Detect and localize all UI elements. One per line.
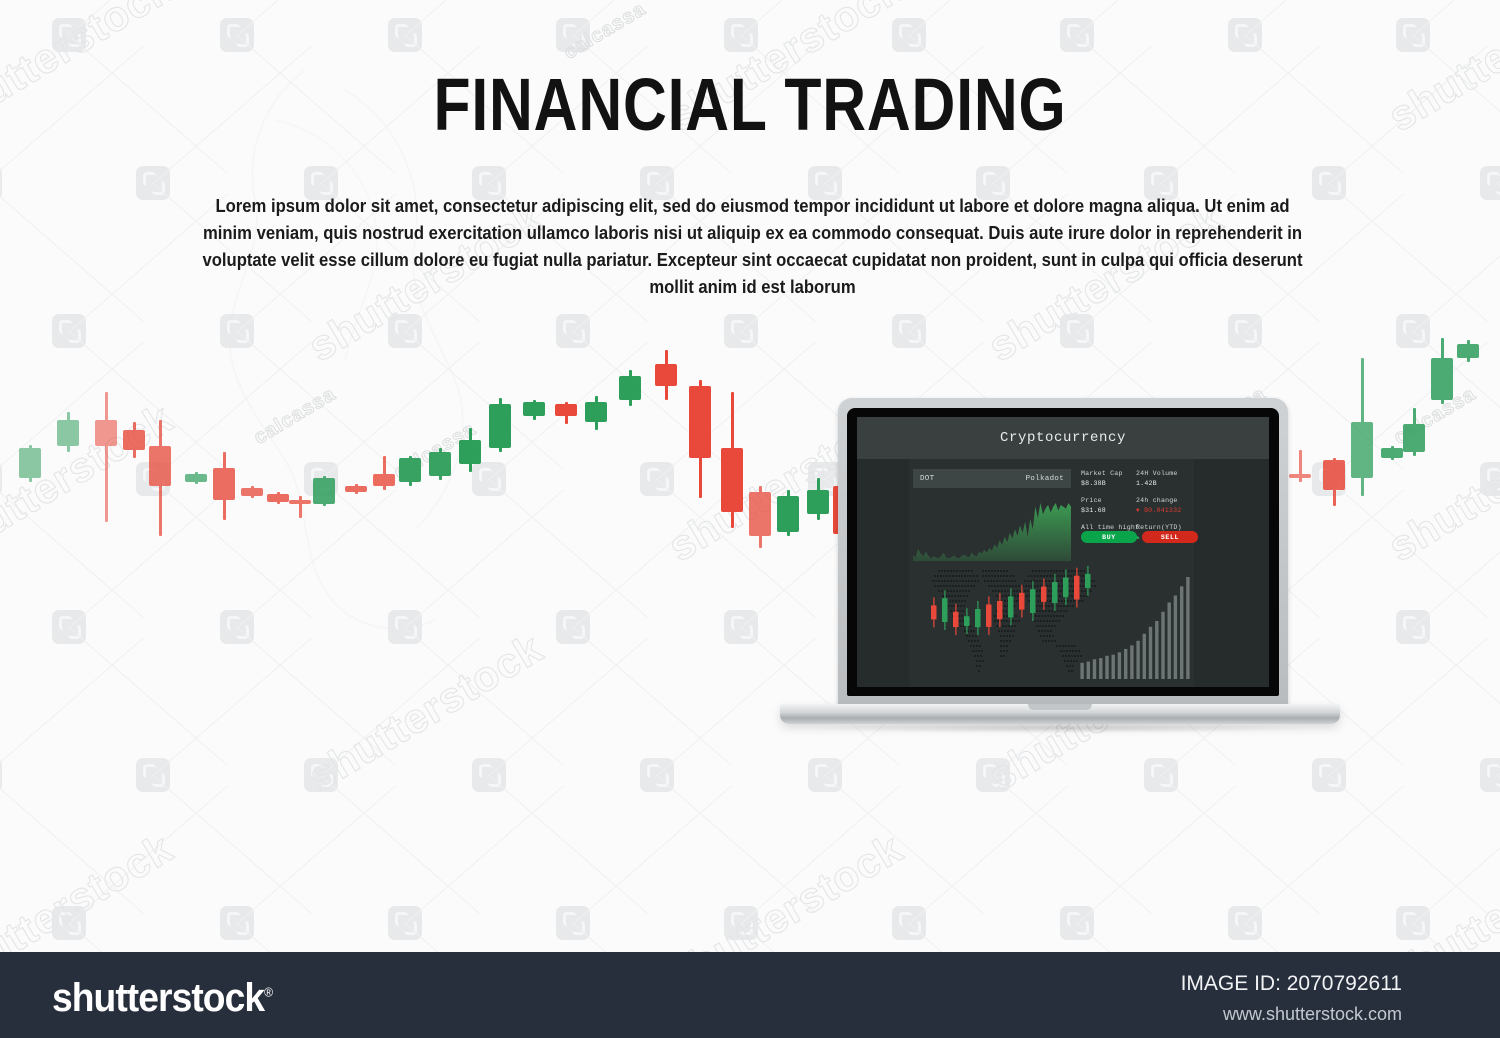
map-dot <box>1074 570 1076 572</box>
map-dot <box>1049 600 1051 602</box>
map-dot <box>974 580 976 582</box>
map-dot <box>1043 635 1045 637</box>
map-dot <box>1028 575 1030 577</box>
map-dot <box>970 645 972 647</box>
map-dot <box>940 575 942 577</box>
price-area-chart <box>913 499 1071 561</box>
map-candle-body <box>953 612 959 627</box>
volume-bar-chart <box>1079 571 1191 679</box>
candlestick <box>749 300 771 600</box>
shutterstock-watermark-logo <box>220 906 254 940</box>
map-dot <box>993 580 995 582</box>
stat-cell: Price$31.68 <box>1081 496 1136 516</box>
map-dot <box>968 640 970 642</box>
map-dot <box>978 650 980 652</box>
map-dot <box>1073 600 1075 602</box>
map-dot <box>1058 585 1060 587</box>
map-dot <box>1050 595 1052 597</box>
map-dot <box>964 630 966 632</box>
map-dot <box>962 570 964 572</box>
map-dot <box>1018 620 1020 622</box>
map-candle-body <box>1052 582 1058 603</box>
watermark-guide-line <box>573 0 732 36</box>
map-dot <box>1043 620 1045 622</box>
map-dot <box>966 635 968 637</box>
volume-bar <box>1105 656 1108 679</box>
candlestick <box>345 300 367 600</box>
candle-body <box>185 474 207 482</box>
map-dot <box>960 625 962 627</box>
shutterstock-watermark-logo <box>388 906 422 940</box>
map-dot <box>938 570 940 572</box>
map-dot <box>1006 585 1008 587</box>
map-dot <box>953 590 955 592</box>
map-dot <box>1067 600 1069 602</box>
map-dot <box>999 580 1001 582</box>
map-dot <box>1003 635 1005 637</box>
map-dot <box>1034 620 1036 622</box>
map-dot <box>997 575 999 577</box>
map-dot <box>1050 615 1052 617</box>
map-dot <box>991 575 993 577</box>
map-dot <box>1038 595 1040 597</box>
candlestick <box>1351 300 1373 600</box>
map-dot <box>1069 580 1071 582</box>
map-dot <box>970 630 972 632</box>
map-dot <box>1016 600 1018 602</box>
shutterstock-url[interactable]: www.shutterstock.com <box>1223 1004 1402 1025</box>
candle-body <box>345 486 367 492</box>
map-dot <box>975 635 977 637</box>
map-dot <box>1061 575 1063 577</box>
map-dot <box>1063 605 1065 607</box>
sell-button[interactable]: SELL <box>1142 531 1198 543</box>
map-dot <box>1042 625 1044 627</box>
map-dot <box>982 575 984 577</box>
map-dot <box>1066 650 1068 652</box>
map-dot <box>978 670 980 672</box>
brand-watermark-text: calcassa <box>560 0 650 65</box>
map-dot <box>958 585 960 587</box>
map-dot <box>1004 600 1006 602</box>
map-dot <box>1071 595 1073 597</box>
map-dot <box>1005 580 1007 582</box>
map-dot <box>1065 655 1067 657</box>
map-dot <box>972 635 974 637</box>
map-dot <box>1049 575 1051 577</box>
candlestick <box>1381 300 1403 600</box>
shutterstock-watermark-logo <box>892 906 926 940</box>
candlestick <box>241 300 263 600</box>
map-dot <box>1070 660 1072 662</box>
candle-body <box>555 404 577 416</box>
map-dot <box>959 570 961 572</box>
map-dot <box>955 600 957 602</box>
volume-bar <box>1149 627 1152 679</box>
candle-body <box>1403 424 1425 452</box>
map-dot <box>1038 630 1040 632</box>
shutterstock-watermark-logo <box>1060 906 1094 940</box>
candle-body <box>213 468 235 500</box>
laptop-lid: Cryptocurrency DOT Polkadot Market Cap$8… <box>838 398 1288 710</box>
watermark-guide-line <box>489 637 648 776</box>
map-dot <box>1009 575 1011 577</box>
watermark-guide-line <box>1329 637 1488 776</box>
map-dot <box>977 655 979 657</box>
candle-body <box>721 448 743 512</box>
map-dot <box>1004 590 1006 592</box>
map-dot <box>1073 660 1075 662</box>
map-dot <box>995 590 997 592</box>
map-dot <box>1062 645 1064 647</box>
map-dot <box>1038 570 1040 572</box>
map-dot <box>1061 585 1063 587</box>
map-dot <box>1049 635 1051 637</box>
map-dot <box>1036 590 1038 592</box>
stat-label: 24H Volume <box>1136 469 1191 479</box>
map-dot <box>976 575 978 577</box>
map-dot <box>1040 575 1042 577</box>
map-dot <box>1036 580 1038 582</box>
shutterstock-watermark-logo <box>1060 18 1094 52</box>
map-candle-body <box>964 616 970 626</box>
shutterstock-watermark-logo <box>136 758 170 792</box>
map-dot <box>951 595 953 597</box>
candle-body <box>619 376 641 400</box>
watermark-guide-line <box>1245 0 1404 36</box>
map-dot <box>1030 580 1032 582</box>
map-dot <box>1046 635 1048 637</box>
map-dot <box>1062 570 1064 572</box>
map-dot <box>975 650 977 652</box>
map-dot <box>938 590 940 592</box>
map-dot <box>1045 640 1047 642</box>
map-dot <box>1027 590 1029 592</box>
map-dot <box>1048 605 1050 607</box>
map-dot <box>962 590 964 592</box>
map-dot <box>1014 625 1016 627</box>
map-dot <box>1001 630 1003 632</box>
map-dot <box>1042 610 1044 612</box>
map-dot <box>973 575 975 577</box>
map-dot <box>1028 600 1030 602</box>
map-dot <box>971 580 973 582</box>
map-dot <box>956 590 958 592</box>
map-dot <box>1044 570 1046 572</box>
map-dot <box>947 590 949 592</box>
map-dot <box>1052 575 1054 577</box>
map-dot <box>944 570 946 572</box>
map-dot <box>965 580 967 582</box>
map-dot <box>947 570 949 572</box>
candlestick <box>585 300 607 600</box>
map-dot <box>994 570 996 572</box>
candlestick <box>1403 300 1425 600</box>
app-window-title: Cryptocurrency <box>1000 430 1126 446</box>
map-dot <box>965 590 967 592</box>
map-dot <box>973 585 975 587</box>
watermark-guide-line <box>1413 0 1500 36</box>
shutterstock-watermark-logo <box>1480 758 1500 792</box>
candlestick <box>523 300 545 600</box>
map-dot <box>949 585 951 587</box>
stat-label: 24h change <box>1136 496 1191 506</box>
map-dot <box>961 615 963 617</box>
shutterstock-watermark-logo <box>892 18 926 52</box>
map-dot <box>1071 670 1073 672</box>
map-dot <box>1034 575 1036 577</box>
map-dot <box>1070 600 1072 602</box>
shutterstock-watermark-logo <box>1396 18 1430 52</box>
candlestick <box>185 300 207 600</box>
map-dot <box>980 655 982 657</box>
map-dot <box>970 575 972 577</box>
laptop-shadow <box>810 723 1310 733</box>
image-id-label: IMAGE ID: 2070792611 <box>1181 972 1402 996</box>
map-dot <box>1075 650 1077 652</box>
stat-label: Price <box>1081 496 1136 506</box>
watermark-guide-line <box>69 785 228 924</box>
map-dot <box>1048 640 1050 642</box>
map-dot <box>990 580 992 582</box>
map-dot <box>941 580 943 582</box>
map-dot <box>1062 655 1064 657</box>
map-dot <box>1000 655 1002 657</box>
map-dot <box>996 580 998 582</box>
shutterstock-watermark-logo <box>0 758 2 792</box>
map-dot <box>1062 615 1064 617</box>
volume-bar <box>1080 663 1083 679</box>
watermark-guide-line <box>321 637 480 776</box>
stat-value: ▼ $0.041332 <box>1136 506 1191 516</box>
map-dot <box>955 585 957 587</box>
trend-marker: ▼ <box>1136 507 1140 514</box>
map-dot <box>1052 620 1054 622</box>
candle-body <box>655 364 677 386</box>
map-dot <box>1071 655 1073 657</box>
shutterstock-watermark-logo <box>388 18 422 52</box>
map-dot <box>1000 635 1002 637</box>
shutterstock-watermark-logo <box>1312 166 1346 200</box>
candle-body <box>1381 448 1403 458</box>
map-dot <box>1047 630 1049 632</box>
shutterstock-watermark-text: shutterstock <box>300 624 551 801</box>
map-dot <box>1006 640 1008 642</box>
candlestick <box>399 300 421 600</box>
map-dot <box>1072 605 1074 607</box>
candle-body <box>95 420 117 446</box>
map-dot <box>991 570 993 572</box>
volume-bar <box>1087 662 1090 679</box>
map-dot <box>1003 645 1005 647</box>
map-dot <box>1037 600 1039 602</box>
map-dot <box>1011 580 1013 582</box>
map-dot <box>937 585 939 587</box>
map-dot <box>970 585 972 587</box>
registered-mark: ® <box>264 985 272 1000</box>
watermark-guide-line <box>1413 785 1500 924</box>
map-dot <box>1006 645 1008 647</box>
volume-bar <box>1143 634 1146 679</box>
map-dot <box>1051 610 1053 612</box>
map-dot <box>1003 570 1005 572</box>
map-dot <box>996 595 998 597</box>
map-dot <box>1065 645 1067 647</box>
laptop-bezel: Cryptocurrency DOT Polkadot Market Cap$8… <box>847 408 1279 696</box>
trade-actions: BUY SELL <box>1081 531 1199 543</box>
watermark-guide-line <box>909 0 1068 36</box>
map-dot <box>1046 620 1048 622</box>
map-dot <box>1072 650 1074 652</box>
map-dot <box>988 570 990 572</box>
map-dot <box>967 575 969 577</box>
map-dot <box>1076 660 1078 662</box>
candlestick <box>1457 300 1479 600</box>
poster-canvas: shutterstockshutterstockshutterstockshut… <box>0 0 1500 1038</box>
map-dot <box>1027 580 1029 582</box>
map-dot <box>1000 570 1002 572</box>
candlestick <box>95 300 117 600</box>
watermark-guide-line <box>69 0 228 36</box>
map-dot <box>1053 615 1055 617</box>
watermark-guide-line <box>236 627 395 766</box>
map-dot <box>1047 595 1049 597</box>
app-content-panel: DOT Polkadot Market Cap$8.38B24H Volume1… <box>909 459 1194 687</box>
watermark-guide-line <box>68 627 227 766</box>
map-dot <box>1058 600 1060 602</box>
map-dot <box>958 575 960 577</box>
map-dot <box>959 590 961 592</box>
map-dot <box>1007 590 1009 592</box>
map-dot <box>997 620 999 622</box>
candle-body <box>1351 422 1373 478</box>
map-dot <box>935 580 937 582</box>
map-dot <box>1060 605 1062 607</box>
map-dot <box>1000 575 1002 577</box>
watermark-guide-line <box>320 775 479 914</box>
map-dot <box>953 610 955 612</box>
shutterstock-watermark-logo <box>976 758 1010 792</box>
map-dot <box>1040 620 1042 622</box>
map-dot <box>1059 570 1061 572</box>
map-dot <box>1068 645 1070 647</box>
map-dot <box>977 640 979 642</box>
candlestick <box>489 300 511 600</box>
map-dot <box>1051 625 1053 627</box>
map-dot <box>947 580 949 582</box>
stat-cell: 24H Volume1.42B <box>1136 469 1191 489</box>
map-dot <box>1058 575 1060 577</box>
map-dot <box>1069 605 1071 607</box>
map-dot <box>952 585 954 587</box>
map-dot <box>1039 605 1041 607</box>
map-dot <box>1008 625 1010 627</box>
stat-row: Market Cap$8.38B24H Volume1.42B <box>1081 469 1191 489</box>
volume-bar <box>1112 655 1115 679</box>
watermark-guide-line <box>0 45 144 184</box>
map-dot <box>949 600 951 602</box>
candlestick <box>123 300 145 600</box>
map-dot <box>1061 600 1063 602</box>
map-dot <box>994 615 996 617</box>
map-dot <box>979 645 981 647</box>
map-dot <box>1039 625 1041 627</box>
watermark-guide-line <box>152 775 311 914</box>
candlestick <box>655 300 677 600</box>
map-dot <box>1070 575 1072 577</box>
candlestick <box>721 300 743 600</box>
watermark-guide-line <box>1245 785 1404 924</box>
map-dot <box>1039 590 1041 592</box>
map-dot <box>1000 585 1002 587</box>
map-candle-body <box>1019 593 1025 610</box>
map-dot <box>960 605 962 607</box>
map-dot <box>950 610 952 612</box>
map-dot <box>962 610 964 612</box>
map-dot <box>1000 640 1002 642</box>
map-dot <box>973 645 975 647</box>
stat-cell: Market Cap$8.38B <box>1081 469 1136 489</box>
shutterstock-logo-text: shutterstock <box>52 976 264 1020</box>
watermark-guide-line <box>405 0 564 36</box>
map-dot <box>1002 595 1004 597</box>
map-dot <box>1074 645 1076 647</box>
map-dot <box>1013 590 1015 592</box>
map-dot <box>1044 630 1046 632</box>
watermark-guide-line <box>1160 775 1319 914</box>
shutterstock-watermark-logo <box>1480 166 1500 200</box>
map-dot <box>1009 635 1011 637</box>
shutterstock-watermark-logo <box>0 166 2 200</box>
shutterstock-watermark-logo <box>304 758 338 792</box>
map-dot <box>1006 620 1008 622</box>
candle-body <box>689 386 711 458</box>
map-dot <box>1003 615 1005 617</box>
map-dot <box>1070 585 1072 587</box>
map-dot <box>1004 630 1006 632</box>
map-dot <box>1037 575 1039 577</box>
candle-body <box>373 474 395 486</box>
map-dot <box>1063 610 1065 612</box>
map-dot <box>973 630 975 632</box>
map-dot <box>994 620 996 622</box>
candlestick <box>267 300 289 600</box>
watermark-guide-line <box>1412 35 1500 174</box>
ticker-name: Polkadot <box>1026 475 1064 483</box>
volume-bar <box>1155 621 1158 679</box>
candlestick <box>429 300 451 600</box>
map-dot <box>988 575 990 577</box>
map-dot <box>1013 630 1015 632</box>
buy-button[interactable]: BUY <box>1081 531 1137 543</box>
candle-body <box>57 420 79 446</box>
map-dot <box>1039 580 1041 582</box>
map-dot <box>1069 665 1071 667</box>
map-dot <box>1054 640 1056 642</box>
watermark-guide-line <box>1328 775 1487 914</box>
map-dot <box>1006 570 1008 572</box>
watermark-guide-line <box>909 785 1068 924</box>
map-dot <box>1050 630 1052 632</box>
map-candle-body <box>986 605 992 627</box>
map-dot <box>1012 635 1014 637</box>
ticker-selector[interactable]: DOT Polkadot <box>913 469 1071 488</box>
candle-body <box>123 430 145 450</box>
volume-bar <box>1118 652 1121 679</box>
watermark-guide-line <box>237 785 396 924</box>
map-dot <box>981 650 983 652</box>
map-dot <box>1047 615 1049 617</box>
